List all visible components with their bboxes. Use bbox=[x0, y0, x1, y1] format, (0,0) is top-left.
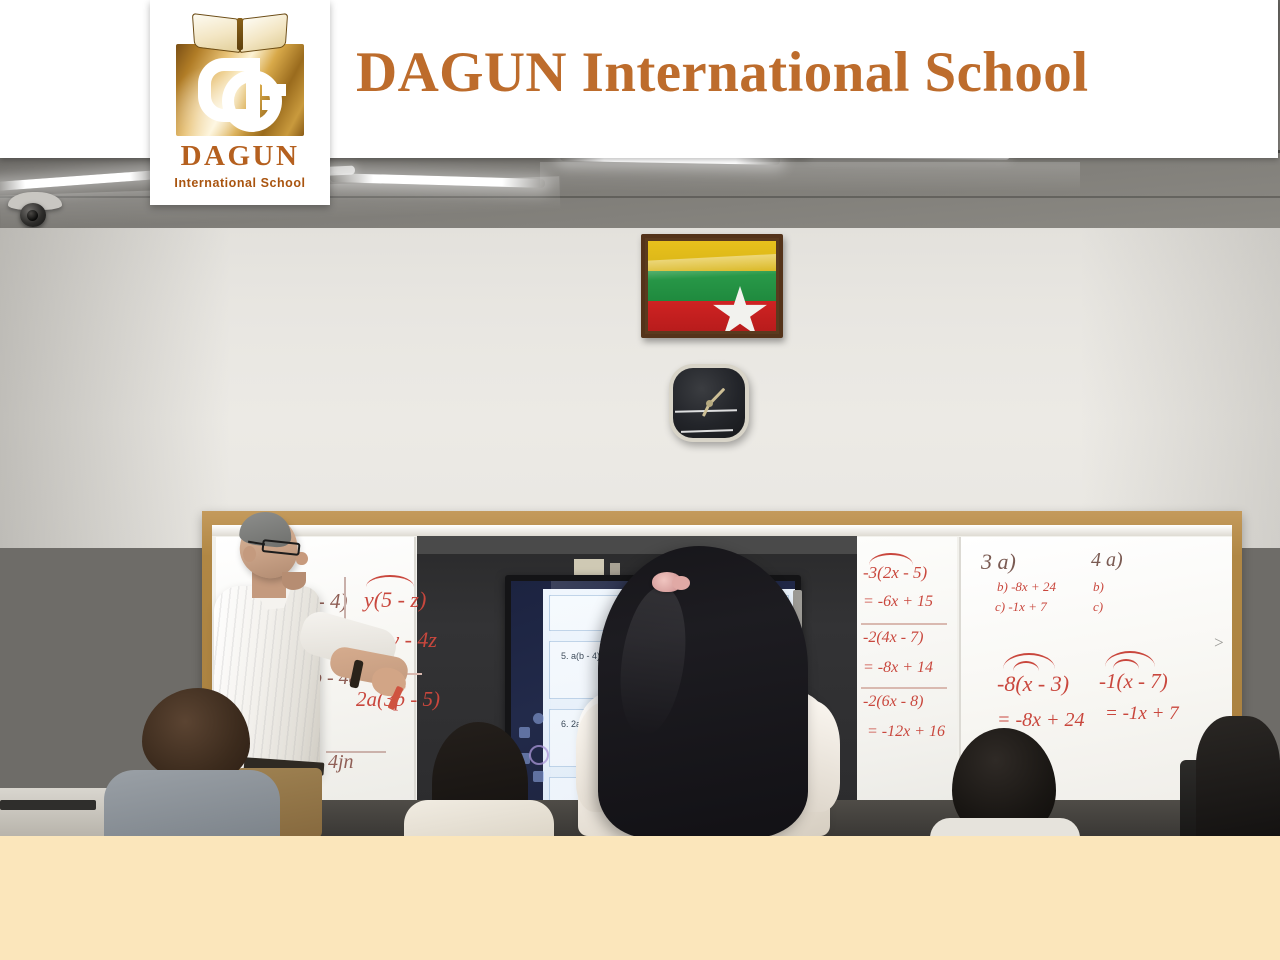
handwriting-right: 3 a) bbox=[981, 549, 1016, 575]
logo-card: DAGUN International School bbox=[150, 0, 330, 205]
light-beam bbox=[540, 162, 1080, 192]
handwriting-right: -2(4x - 7) bbox=[863, 629, 923, 647]
handwriting-right: = -8x + 14 bbox=[863, 659, 933, 677]
handwriting-right: = -1x + 7 bbox=[1105, 703, 1179, 725]
teacher-ear bbox=[243, 546, 256, 562]
handwriting-right: b) bbox=[1093, 579, 1104, 595]
student-far-right bbox=[1196, 716, 1280, 836]
whiteboard-middle: -3(2x - 5) = -6x + 15 -2(4x - 7) = -8x +… bbox=[857, 537, 957, 834]
book-spine bbox=[237, 18, 243, 50]
pen-tool-icon[interactable] bbox=[519, 727, 530, 738]
whiteboard-top-lip bbox=[212, 525, 1232, 536]
wall-clock bbox=[669, 364, 749, 442]
handwriting-right: -3(2x - 5) bbox=[863, 563, 927, 583]
eraser-tool-icon[interactable] bbox=[533, 771, 544, 782]
handwriting-right: b) -8x + 24 bbox=[997, 579, 1056, 595]
dg-monogram-icon bbox=[176, 44, 304, 136]
monogram-sheen bbox=[176, 44, 304, 136]
handwriting-right: -8(x - 3) bbox=[997, 671, 1069, 697]
handwriting-right: = -12x + 16 bbox=[867, 723, 945, 741]
book-page-left bbox=[192, 13, 240, 53]
handwriting-rule bbox=[861, 623, 947, 625]
handwriting-right: 4 a) bbox=[1091, 549, 1123, 572]
clock-center-pin bbox=[706, 400, 713, 407]
logo-subtitle: International School bbox=[174, 176, 305, 190]
screen-recess-header bbox=[417, 536, 857, 554]
contact-footer: www.dagunis.com Admissions@dagunis.com +… bbox=[0, 836, 1280, 960]
page-title: DAGUN International School bbox=[356, 40, 1088, 105]
handwriting-right: c) -1x + 7 bbox=[995, 599, 1047, 615]
desk-left bbox=[0, 788, 120, 836]
desk-left-edge bbox=[0, 800, 96, 810]
book-page-right bbox=[240, 13, 288, 53]
logo-wordmark: DAGUN bbox=[181, 142, 300, 171]
student-shirt bbox=[104, 770, 280, 836]
student-shirt bbox=[930, 818, 1080, 836]
poster-root: b - 4) ab - 4a ab - 4a y(5 - z) = 5y - 4… bbox=[0, 0, 1280, 960]
board-chevron: > bbox=[1213, 633, 1224, 653]
myanmar-flag bbox=[648, 241, 776, 331]
wall-shadow-left bbox=[0, 228, 230, 548]
handwriting-right: -1(x - 7) bbox=[1099, 669, 1168, 694]
student-shirt bbox=[404, 800, 554, 836]
myanmar-flag-framed bbox=[641, 234, 783, 338]
handwriting-arc bbox=[366, 575, 414, 587]
handwriting-left: y(5 - z) bbox=[364, 587, 426, 613]
slide-text: 5. a(b - 4) bbox=[561, 651, 600, 661]
open-book-icon bbox=[192, 12, 288, 52]
handwriting-right: = -6x + 15 bbox=[863, 593, 933, 611]
handwriting-rule bbox=[861, 687, 947, 689]
handwriting-left: 4jn bbox=[328, 751, 354, 774]
settings-gear-icon[interactable] bbox=[533, 713, 544, 724]
radial-menu-icon[interactable] bbox=[529, 745, 549, 765]
camera-lens bbox=[27, 210, 38, 221]
handwriting-right: c) bbox=[1093, 599, 1103, 615]
hair-clip-accent bbox=[672, 576, 690, 590]
wall-shadow-right bbox=[1080, 228, 1280, 548]
handwriting-right: -2(6x - 8) bbox=[863, 693, 923, 711]
